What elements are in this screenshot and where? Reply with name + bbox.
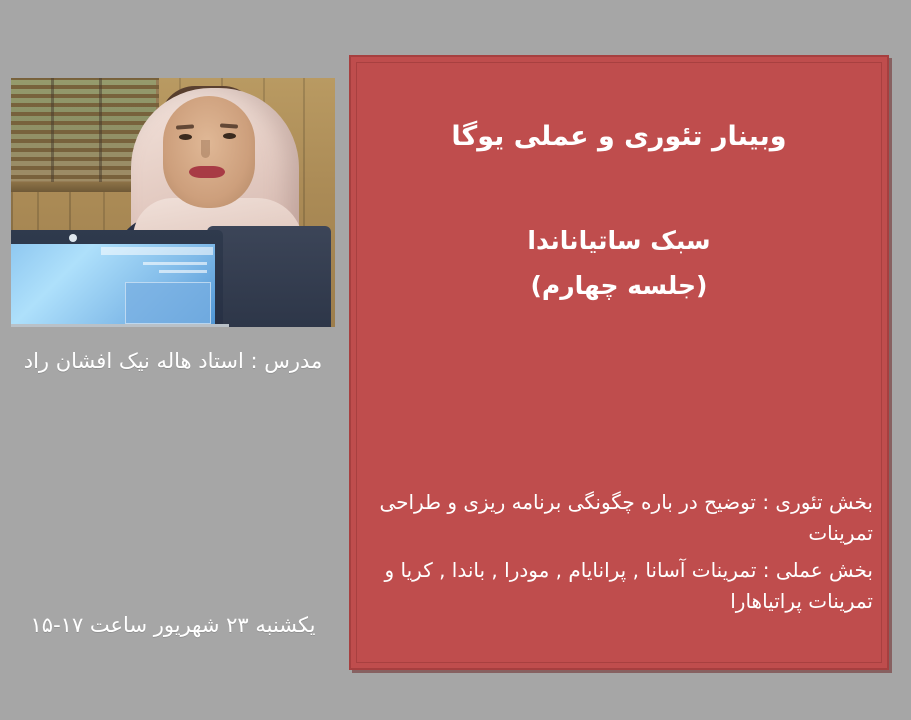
- info-panel: وبینار تئوری و عملی یوگا سبک ساتیاناندا …: [349, 55, 889, 670]
- panel-style-name: سبک ساتیاناندا: [351, 222, 887, 261]
- photo-second-laptop: [207, 226, 331, 327]
- panel-body: بخش تئوری : توضیح در باره چگونگی برنامه …: [365, 487, 873, 623]
- photo-person-nose: [201, 140, 210, 158]
- instructor-caption: مدرس : استاد هاله نیک افشان راد: [11, 349, 335, 373]
- photo-screen-panel: [125, 282, 211, 324]
- photo-screen-text-line: [143, 262, 207, 265]
- date-time-caption: یکشنبه ۲۳ شهریور ساعت ۱۷-۱۵: [11, 613, 335, 637]
- photo-laptop-webcam: [69, 234, 77, 242]
- photo-laptop-base: [11, 324, 229, 327]
- photo-person-eye-left: [179, 134, 192, 140]
- photo-screen-toolbar: [101, 247, 213, 255]
- photo-person-mouth: [189, 166, 225, 178]
- panel-title: وبینار تئوری و عملی یوگا: [351, 119, 887, 154]
- photo-screen-text-line: [159, 270, 207, 273]
- instructor-photo: [11, 78, 335, 327]
- photo-person-eye-right: [223, 133, 236, 139]
- photo-laptop-screen: [11, 244, 215, 326]
- panel-session-number: (جلسه چهارم): [351, 267, 887, 306]
- slide-canvas: مدرس : استاد هاله نیک افشان راد یکشنبه ۲…: [0, 0, 911, 720]
- panel-practice-line: بخش عملی : تمرینات آسانا , پرانایام , مو…: [365, 555, 873, 617]
- panel-theory-line: بخش تئوری : توضیح در باره چگونگی برنامه …: [365, 487, 873, 549]
- panel-subtitle-group: سبک ساتیاناندا (جلسه چهارم): [351, 222, 887, 306]
